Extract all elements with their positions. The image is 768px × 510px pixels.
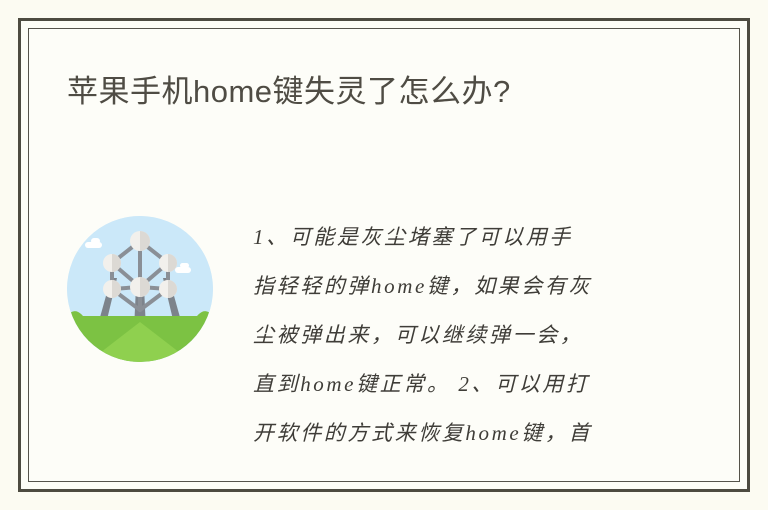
page-title: 苹果手机home键失灵了怎么办? — [67, 72, 697, 112]
article-thumbnail — [67, 216, 213, 362]
article-inner-frame: 苹果手机home键失灵了怎么办? — [28, 28, 740, 482]
text-line: 1、可能是灰尘堵塞了可以用手 — [253, 213, 709, 262]
article-body: 1、可能是灰尘堵塞了可以用手 指轻轻的弹home键，如果会有灰 尘被弹出来，可以… — [67, 211, 709, 458]
text-line: 尘被弹出来，可以继续弹一会， — [253, 311, 709, 360]
text-line: 直到home键正常。 2、可以用打 — [253, 360, 709, 409]
article-body-text: 1、可能是灰尘堵塞了可以用手 指轻轻的弹home键，如果会有灰 尘被弹出来，可以… — [253, 211, 709, 458]
atomium-landmark-illustration — [67, 216, 213, 362]
text-line: 开软件的方式来恢复home键，首 — [253, 409, 709, 458]
article-card: 苹果手机home键失灵了怎么办? — [18, 18, 750, 492]
text-line: 指轻轻的弹home键，如果会有灰 — [253, 262, 709, 311]
